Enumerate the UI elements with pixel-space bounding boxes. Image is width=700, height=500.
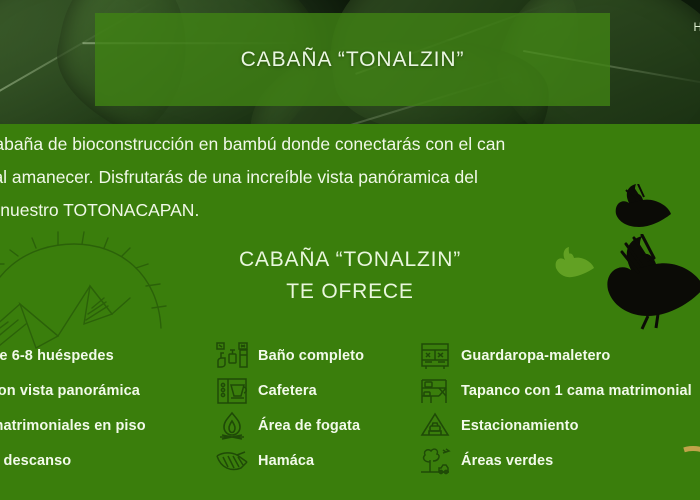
page-title: CABAÑA “TONALZIN” (241, 48, 465, 72)
list-item-label: Área de fogata (252, 418, 360, 434)
list-item: Guardaropa-maletero (415, 338, 700, 373)
list-item-label: a de descanso (0, 453, 71, 469)
hero-banner: CABAÑA “TONALZIN” HO (0, 0, 700, 124)
list-item-label: as matrimoniales en piso (0, 418, 146, 434)
list-item: Cafetera (212, 373, 427, 408)
amenities-column-right: Guardaropa-maletero Tapanco con 1 cama m… (415, 338, 700, 478)
list-item-label: Estacionamiento (455, 418, 579, 434)
list-item-label: Baño completo (252, 348, 364, 364)
loftbed-icon (415, 374, 455, 408)
list-item: Áreas verdes (415, 443, 700, 478)
list-item: Baño completo (212, 338, 427, 373)
list-item: Hamáca (212, 443, 427, 478)
list-item: Área de fogata (212, 408, 427, 443)
nav-item-home[interactable]: HO (694, 22, 700, 34)
list-item-label: edaje 6-8 huéspedes (0, 348, 114, 364)
list-item: Estacionamiento (415, 408, 700, 443)
carport-icon (415, 409, 455, 443)
list-item-label: za con vista panorámica (0, 383, 140, 399)
greenareas-icon (415, 444, 455, 478)
list-item: Tapanco con 1 cama matrimonial (415, 373, 700, 408)
bird-icon (598, 234, 700, 330)
amenities-column-middle: Baño completo Cafetera (212, 338, 427, 478)
wardrobe-icon (415, 339, 455, 373)
list-item-label: Cafetera (252, 383, 317, 399)
amenities-section: edaje 6-8 huéspedes za con vista panorám… (0, 338, 700, 488)
hammock-icon (212, 444, 252, 478)
list-item-label: Hamáca (252, 453, 314, 469)
amenities-column-left: edaje 6-8 huéspedes za con vista panorám… (0, 338, 178, 478)
list-item: as matrimoniales en piso (0, 408, 178, 443)
hero-title-band: CABAÑA “TONALZIN” (95, 13, 610, 106)
bird-icon (610, 184, 672, 238)
campfire-icon (212, 409, 252, 443)
list-item-label: Áreas verdes (455, 453, 553, 469)
list-item-label: Guardaropa-maletero (455, 348, 610, 364)
bird-icon (552, 246, 596, 286)
list-item: za con vista panorámica (0, 373, 178, 408)
birds-decor (546, 186, 700, 336)
intro-line-1: mosa cabaña de bioconstrucción en bambú … (0, 128, 700, 161)
list-item: a de descanso (0, 443, 178, 478)
list-item: edaje 6-8 huéspedes (0, 338, 178, 373)
page-root: CABAÑA “TONALZIN” HO mosa cabaña de bioc… (0, 0, 700, 500)
list-item-label: Tapanco con 1 cama matrimonial (455, 383, 692, 399)
bathroom-icon (212, 339, 252, 373)
coffeemaker-icon (212, 374, 252, 408)
